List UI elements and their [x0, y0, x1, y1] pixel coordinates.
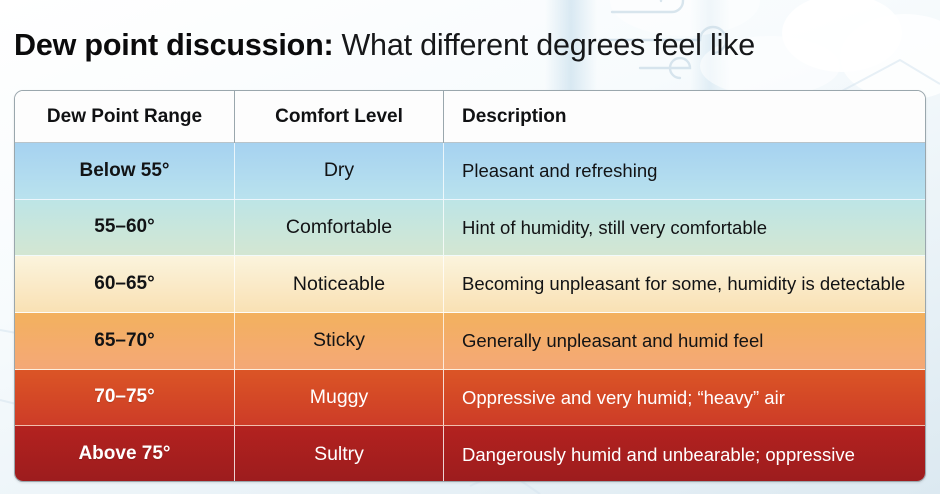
cell-dew-point-range: Above 75° [15, 426, 235, 482]
cell-description-text: Generally unpleasant and humid feel [462, 313, 913, 369]
column-header-comfort: Comfort Level [235, 91, 444, 143]
cell-description: Generally unpleasant and humid feel [444, 313, 925, 369]
table-row: 70–75°MuggyOppressive and very humid; “h… [15, 370, 925, 427]
cell-description-text: Becoming unpleasant for some, humidity i… [462, 256, 913, 312]
column-header-range: Dew Point Range [15, 91, 235, 143]
cell-comfort-level: Muggy [235, 370, 444, 426]
cell-description: Dangerously humid and unbearable; oppres… [444, 426, 925, 482]
dew-point-table: Dew Point Range Comfort Level Descriptio… [14, 90, 926, 482]
cell-dew-point-range: Below 55° [15, 143, 235, 199]
cell-comfort-level: Sticky [235, 313, 444, 369]
cell-description-text: Pleasant and refreshing [462, 143, 913, 199]
cell-dew-point-range: 55–60° [15, 200, 235, 256]
table-row: 60–65°NoticeableBecoming unpleasant for … [15, 256, 925, 313]
cell-comfort-level: Comfortable [235, 200, 444, 256]
cell-description: Oppressive and very humid; “heavy” air [444, 370, 925, 426]
table-body: Below 55°DryPleasant and refreshing55–60… [15, 143, 925, 482]
table-row: 55–60°ComfortableHint of humidity, still… [15, 200, 925, 257]
table-row: Below 55°DryPleasant and refreshing [15, 143, 925, 200]
cell-description-text: Dangerously humid and unbearable; oppres… [462, 426, 913, 482]
cell-description: Hint of humidity, still very comfortable [444, 200, 925, 256]
cell-description-text: Hint of humidity, still very comfortable [462, 200, 913, 256]
cell-dew-point-range: 65–70° [15, 313, 235, 369]
cell-comfort-level: Dry [235, 143, 444, 199]
cell-comfort-level: Noticeable [235, 256, 444, 312]
table-row: Above 75°SultryDangerously humid and unb… [15, 426, 925, 482]
page-title-strong: Dew point discussion: [14, 28, 333, 63]
cell-comfort-level: Sultry [235, 426, 444, 482]
table-header-row: Dew Point Range Comfort Level Descriptio… [15, 91, 925, 143]
slide-canvas: Dew point discussion: What different deg… [0, 0, 940, 494]
page-title-rest: What different degrees feel like [341, 28, 755, 63]
column-header-description: Description [444, 91, 925, 143]
cell-description-text: Oppressive and very humid; “heavy” air [462, 370, 913, 426]
cell-dew-point-range: 70–75° [15, 370, 235, 426]
cell-dew-point-range: 60–65° [15, 256, 235, 312]
cell-description: Becoming unpleasant for some, humidity i… [444, 256, 925, 312]
cell-description: Pleasant and refreshing [444, 143, 925, 199]
table-row: 65–70°StickyGenerally unpleasant and hum… [15, 313, 925, 370]
page-title: Dew point discussion: What different deg… [14, 17, 930, 73]
